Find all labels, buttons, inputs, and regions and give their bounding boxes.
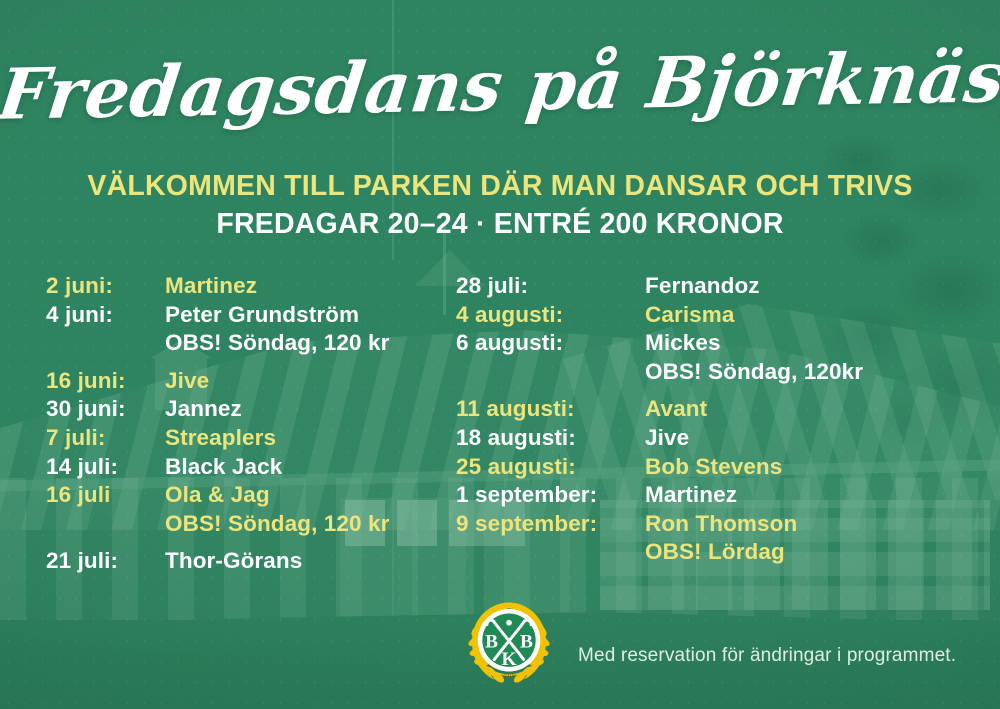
schedule-band: Martinez (645, 482, 737, 508)
poster: Fredagsdans på Björknäsparken! VÄLKOMMEN… (0, 0, 1000, 709)
svg-text:B: B (485, 632, 498, 653)
page-title: Fredagsdans på Björknäsparken! (0, 35, 1000, 135)
schedule-date: 4 juni: (46, 302, 165, 328)
schedule-row: 28 juli:Fernandoz (456, 273, 926, 302)
schedule-date: 14 juli: (46, 454, 165, 480)
schedule-band: Black Jack (165, 454, 282, 480)
schedule-band: OBS! Söndag, 120 kr (165, 330, 389, 356)
schedule-row: 11 augusti:Avant (456, 396, 926, 425)
subtitle-hours-price: FREDAGAR 20–24 · ENTRÉ 200 KRONOR (0, 208, 1000, 241)
schedule-band: Thor-Görans (165, 548, 302, 574)
schedule-band: Fernandoz (645, 273, 760, 299)
bbk-logo: B B K 1916 (463, 597, 555, 689)
schedule-band: OBS! Söndag, 120 kr (165, 511, 389, 537)
schedule-row: 30 juni:Jannez (46, 396, 446, 425)
schedule-date: 18 augusti: (456, 425, 645, 451)
schedule-row: 21 juli:Thor-Görans (46, 548, 446, 577)
schedule-date: 28 juli: (456, 273, 645, 299)
schedule-row: 2 juni:Martinez (46, 273, 446, 302)
poster-content: Fredagsdans på Björknäsparken! VÄLKOMMEN… (0, 0, 1000, 709)
svg-text:1916: 1916 (503, 673, 514, 679)
schedule-row: OBS! Söndag, 120kr (456, 359, 926, 388)
schedule-band: Mickes (645, 330, 721, 356)
schedule-band: Peter Grundström (165, 302, 359, 328)
schedule-band: Ron Thomson (645, 511, 797, 537)
schedule-row: 4 augusti:Carisma (456, 302, 926, 331)
schedule-band: Streaplers (165, 425, 276, 451)
schedule-date: 16 juli (46, 482, 165, 508)
schedule-band: Bob Stevens (645, 454, 782, 480)
schedule-band: Martinez (165, 273, 257, 299)
schedule-row: 14 juli:Black Jack (46, 454, 446, 483)
schedule-row: 6 augusti:Mickes (456, 330, 926, 359)
schedule-band: Avant (645, 396, 707, 422)
schedule-band: Jive (165, 368, 209, 394)
schedule-row: OBS! Lördag (456, 539, 926, 568)
schedule-row: OBS! Söndag, 120 kr (46, 511, 446, 540)
schedule-date: 25 augusti: (456, 454, 645, 480)
schedule-date: 1 september: (456, 482, 645, 508)
schedule-date: 2 juni: (46, 273, 165, 299)
schedule-date: 9 september: (456, 511, 645, 537)
schedule-date: 16 juni: (46, 368, 165, 394)
subtitle-welcome: VÄLKOMMEN TILL PARKEN DÄR MAN DANSAR OCH… (0, 170, 1000, 203)
schedule-row: 16 juliOla & Jag (46, 482, 446, 511)
schedule-band: OBS! Lördag (645, 539, 785, 565)
schedule-row: 7 juli:Streaplers (46, 425, 446, 454)
schedule-row: OBS! Söndag, 120 kr (46, 330, 446, 359)
schedule-row: 9 september:Ron Thomson (456, 511, 926, 540)
schedule-date: 21 juli: (46, 548, 165, 574)
disclaimer-text: Med reservation för ändringar i programm… (578, 645, 956, 667)
schedule-row: 25 augusti:Bob Stevens (456, 454, 926, 483)
schedule-date: 30 juni: (46, 396, 165, 422)
schedule-band: Ola & Jag (165, 482, 270, 508)
schedule-row: 1 september:Martinez (456, 482, 926, 511)
schedule-band: Jannez (165, 396, 242, 422)
svg-text:K: K (501, 649, 516, 670)
schedule-date: 4 augusti: (456, 302, 645, 328)
schedule-date: 11 augusti: (456, 396, 645, 422)
schedule-band: Carisma (645, 302, 735, 328)
schedule-date: 7 juli: (46, 425, 165, 451)
svg-text:B: B (520, 632, 533, 653)
schedule-column-right: 28 juli:Fernandoz4 augusti:Carisma6 augu… (456, 273, 926, 568)
schedule-band: OBS! Söndag, 120kr (645, 359, 863, 385)
schedule-band: Jive (645, 425, 689, 451)
schedule-row: 4 juni:Peter Grundström (46, 302, 446, 331)
schedule-row: 18 augusti:Jive (456, 425, 926, 454)
schedule-row: 16 juni:Jive (46, 368, 446, 397)
schedule-date: 6 augusti: (456, 330, 645, 356)
schedule-column-left: 2 juni:Martinez4 juni:Peter GrundströmOB… (46, 273, 446, 577)
